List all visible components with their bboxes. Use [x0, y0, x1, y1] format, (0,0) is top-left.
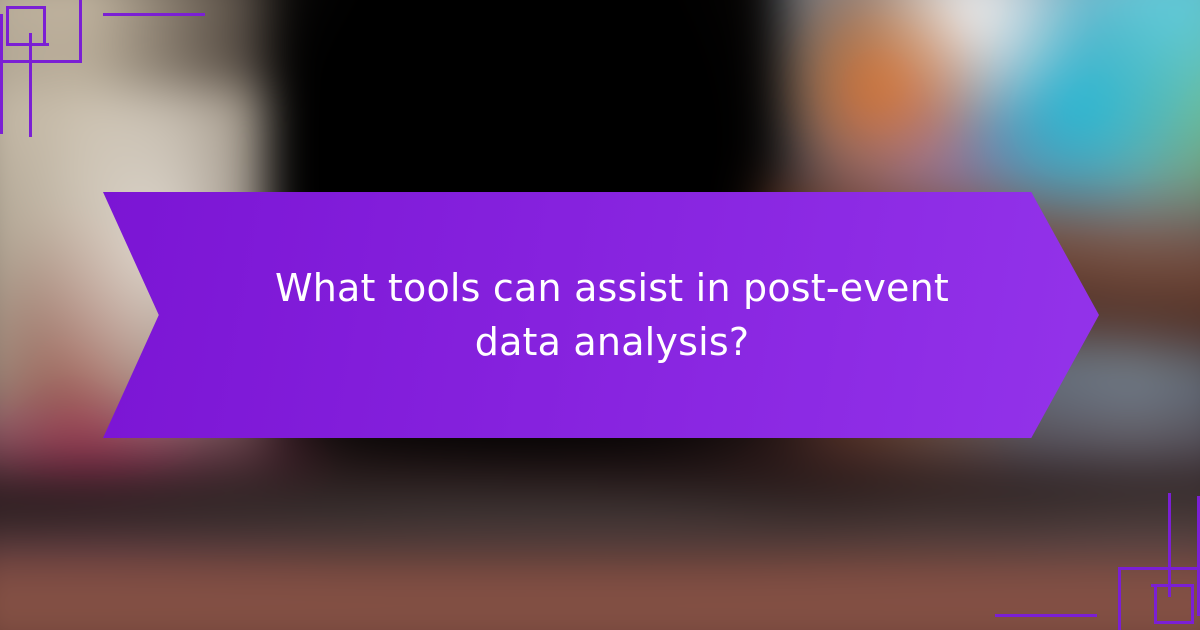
question-text: What tools can assist in post-event data… — [262, 261, 962, 369]
graphic-canvas: What tools can assist in post-event data… — [0, 0, 1200, 630]
question-banner: What tools can assist in post-event data… — [103, 192, 1099, 438]
background-ground — [0, 556, 1200, 630]
